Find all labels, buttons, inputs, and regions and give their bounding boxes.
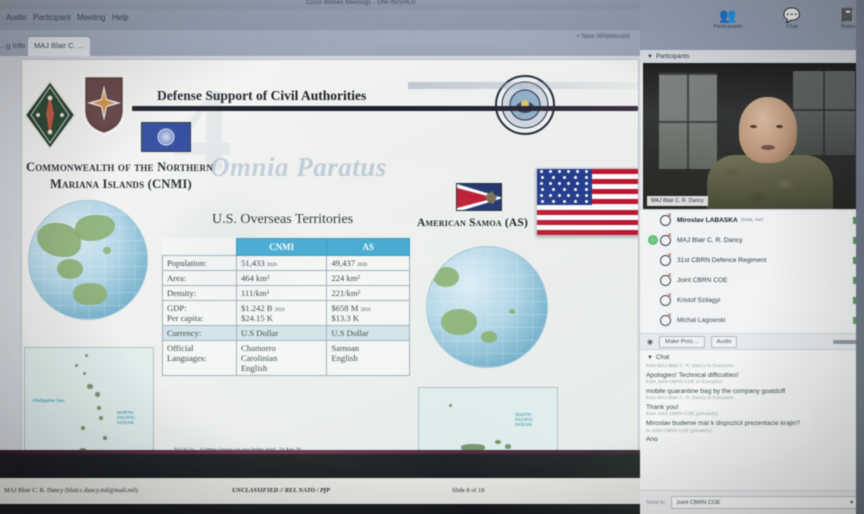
- island-farallon-de-pajaros: [85, 354, 88, 357]
- row-label: Area:: [163, 271, 237, 286]
- mic-muted-icon[interactable]: [660, 215, 671, 226]
- cell-cnmi: 51,433 2020: [237, 256, 327, 271]
- participants-label: Participants: [700, 24, 756, 30]
- table-row-currency: Currency: U.S Dollar U.S Dollar: [163, 326, 410, 341]
- speaking-indicator: [648, 255, 658, 265]
- chat-message-text: mobile quarantine bag by the company goa…: [646, 387, 858, 397]
- participants-panel-title: Participants: [656, 53, 689, 60]
- participant-name: MAJ Blair C. R. Dancy: [677, 237, 743, 244]
- landmass-indonesia: [57, 259, 83, 279]
- participants-list[interactable]: Miroslav LABASKA (Host, me) MAJ Blair C.…: [640, 209, 864, 333]
- make-presenter-button[interactable]: Make Pres…: [659, 336, 705, 348]
- table-row-languages: Official Languages: Chamorro Carolinian …: [163, 341, 410, 376]
- cell-cnmi: Chamorro Carolinian English: [237, 341, 327, 376]
- chevron-down-icon: ▼: [647, 54, 653, 60]
- table-header-row: CNMI AS: [163, 239, 410, 256]
- list-item[interactable]: Kristof Szilagyi: [640, 290, 864, 310]
- list-item[interactable]: MAJ Blair C. R. Dancy: [640, 230, 864, 250]
- island-asuncion: [83, 372, 86, 375]
- cnmi-caption-line1: Commonwealth of the Northern: [26, 160, 213, 175]
- app-status-bar: MAJ Blair C. R. Dancy (blair.c.dancy.mil…: [0, 478, 640, 504]
- table-row-gdp: GDP: Per capita: $1.242 B 2016 $24.15 K …: [163, 301, 410, 326]
- chat-panel-title: Chat: [656, 354, 670, 361]
- title-highlight-bar: [408, 82, 638, 89]
- cell-cnmi: $1.242 B 2016 $24.15 K: [237, 301, 327, 326]
- send-to-label: Send to:: [646, 500, 666, 506]
- menu-item-audio[interactable]: Audio: [6, 13, 26, 22]
- participant-role: (Host, me): [741, 218, 763, 223]
- landmass-samoa: [509, 309, 515, 314]
- presenter-ball-icon: ◉: [647, 338, 653, 346]
- status-slide-number: Slide 8 of 18: [452, 487, 484, 494]
- panel-toolbar: 👥 Participants 💬 Chat 📓 Notes: [640, 0, 864, 50]
- video-person-eye-right: [776, 125, 783, 128]
- map-label-north-pacific: NORTH PACIFIC OCEAN: [117, 410, 149, 425]
- chat-button[interactable]: 💬 Chat: [764, 8, 820, 30]
- list-item[interactable]: Michal Lagowski: [640, 310, 864, 330]
- video-name-label: MAJ Blair C. R. Dancy: [647, 196, 708, 206]
- unit-patch-shield-icon: [82, 74, 126, 136]
- screen-bottom-edge: [0, 504, 640, 514]
- slide-title: Defense Support of Civil Authorities: [157, 88, 366, 104]
- participant-name: Michal Lagowski: [677, 317, 725, 324]
- island-ofu-olosega: [495, 440, 501, 444]
- island-anatahan: [103, 436, 107, 440]
- chat-message-list[interactable]: from MAJ Blair C. R. Dancy to Everyone: …: [640, 364, 864, 445]
- speaking-indicator: [648, 295, 658, 305]
- participants-action-bar: ◉ Make Pres… Audio: [640, 333, 864, 349]
- us-flag-icon: [536, 168, 638, 236]
- send-to-select[interactable]: Joint CBRN COE ▾: [671, 496, 858, 509]
- mic-muted-icon[interactable]: [660, 295, 671, 306]
- map-label-south-pacific: SOUTH PACIFIC OCEAN: [515, 412, 543, 427]
- chat-message-from: from Joint CBRN COE (privately):: [646, 412, 858, 419]
- cell-as: 224 km²: [327, 271, 410, 286]
- landmass-asia-edge: [433, 267, 459, 287]
- tab-meeting-info[interactable]: ...g Info: [0, 37, 31, 56]
- mic-muted-icon[interactable]: [660, 255, 671, 266]
- island-maug: [75, 364, 78, 367]
- list-item[interactable]: Miroslav LABASKA (Host, me): [640, 210, 864, 230]
- video-person-eye-left: [750, 125, 757, 128]
- participants-panel-header[interactable]: ▼Participants: [640, 50, 864, 63]
- chat-message-from: to Joint CBRN COE (privately):: [646, 429, 858, 436]
- list-item[interactable]: Joint CBRN COE: [640, 270, 864, 290]
- row-label: Official Languages:: [163, 341, 237, 376]
- cell-as: $658 M 2016 $13.3 K: [327, 301, 410, 326]
- row-label: Density:: [163, 286, 237, 301]
- slide-canvas: 4 Omnia Paratus: [22, 60, 638, 490]
- mic-muted-icon[interactable]: [660, 235, 671, 246]
- participant-name: Kristof Szilagyi: [677, 297, 720, 304]
- table-row-density: Density: 111/km² 221/km²: [163, 286, 410, 301]
- cell-as: 49,437 2020: [327, 256, 410, 271]
- camo-pattern: [707, 155, 833, 209]
- window-title: Cisco Webex Meetings - UNFINISHED: [306, 0, 416, 6]
- mullion: [687, 73, 689, 169]
- video-person-torso: [707, 155, 833, 209]
- table-row-area: Area: 464 km² 224 km²: [163, 271, 410, 286]
- cnmi-flag-icon: [141, 122, 191, 152]
- globe-south-pacific: [426, 246, 548, 368]
- chat-send-to-row: Send to: Joint CBRN COE ▾: [640, 490, 864, 514]
- mullion: [823, 71, 825, 155]
- island-swains: [449, 404, 452, 407]
- chat-panel: ▼Chat from MAJ Blair C. R. Dancy to Ever…: [640, 349, 864, 514]
- landmass-australia: [441, 309, 477, 335]
- video-person-mouth: [761, 145, 775, 150]
- american-samoa-flag-icon: [456, 183, 502, 211]
- menu-item-help[interactable]: Help: [112, 13, 128, 22]
- title-rule: [132, 106, 638, 111]
- chat-label: Chat: [764, 24, 820, 30]
- watermark-motto: Omnia Paratus: [210, 152, 387, 183]
- chat-message-from: from MAJ Blair C. R. Dancy to Everyone:: [646, 396, 858, 403]
- island-agrihan: [87, 384, 93, 389]
- table-header-as: AS: [327, 239, 410, 256]
- table-title: U.S. Overseas Territories: [212, 212, 353, 228]
- cell-as: 221/km²: [327, 286, 410, 301]
- row-label: Population:: [163, 256, 237, 271]
- island-alamagan: [97, 406, 101, 410]
- overseas-territories-table: CNMI AS Population: 51,433 2020 49,437 2…: [162, 238, 410, 376]
- landmass-new-zealand: [481, 331, 497, 343]
- speaking-indicator: [648, 215, 658, 225]
- chat-message-from: from MAJ Blair C. R. Dancy to Everyone:: [646, 364, 858, 371]
- presentation-stage[interactable]: 4 Omnia Paratus: [0, 56, 640, 514]
- participants-button[interactable]: 👥 Participants: [700, 8, 756, 30]
- tab-presentation[interactable]: MAJ Blair C. ...: [28, 37, 90, 56]
- mic-muted-icon[interactable]: [660, 275, 671, 286]
- cnmi-flag-star: [158, 129, 175, 146]
- status-author: MAJ Blair C. R. Dancy (blair.c.dancy.mil…: [4, 487, 138, 494]
- chat-icon: 💬: [764, 8, 820, 23]
- audio-button[interactable]: Audio: [711, 336, 738, 348]
- island-pagan: [95, 392, 100, 397]
- table-header-blank: [163, 239, 237, 256]
- menu-item-meeting[interactable]: Meeting: [77, 13, 105, 22]
- globe-western-pacific: [28, 200, 148, 320]
- globe-grid: [427, 247, 547, 367]
- chat-message-from: from Joint CBRN COE to Everyone:: [646, 380, 858, 387]
- row-label: GDP: Per capita:: [163, 301, 237, 326]
- landmass-marianas: [103, 247, 111, 254]
- video-tile[interactable]: MAJ Blair C. R. Dancy: [643, 63, 861, 209]
- american-samoa-caption: American Samoa (AS): [417, 217, 528, 229]
- chat-message-text: Miroslav budeme mat k dispozicii prezent…: [646, 419, 858, 429]
- cell-as: Samoan English: [327, 341, 410, 376]
- participants-icon: 👥: [700, 8, 756, 23]
- new-whiteboard-button[interactable]: + New Whiteboard: [576, 33, 630, 40]
- island-guguan: [99, 416, 103, 420]
- cell-cnmi: 111/km²: [237, 286, 327, 301]
- island-sarigan: [81, 426, 85, 430]
- cnmi-caption-line2: Mariana Islands (CNMI): [50, 177, 192, 192]
- speaking-indicator: [648, 275, 658, 285]
- chevron-down-icon: ▼: [647, 355, 653, 361]
- list-item[interactable]: 31st CBRN Defence Regiment: [640, 250, 864, 270]
- menu-item-participant[interactable]: Participant: [33, 13, 71, 22]
- island-tau: [505, 444, 511, 449]
- table-header-cnmi: CNMI: [237, 239, 327, 256]
- speaking-indicator: [648, 315, 658, 325]
- cell-as: U.S Dollar: [327, 326, 410, 341]
- chat-message-text: Apologies! Technical difficulties!: [646, 371, 858, 381]
- cell-cnmi: 464 km²: [237, 271, 327, 286]
- landmass-australia: [73, 283, 107, 305]
- meeting-side-panel: 👥 Participants 💬 Chat 📓 Notes ▼Participa…: [640, 0, 864, 514]
- map-label-philippine-sea: Philippine Sea: [33, 398, 69, 403]
- window-dark-gap: [0, 454, 640, 478]
- us-flag-canton: [537, 169, 592, 205]
- status-classification: UNCLASSIFIED // REL NATO / PfP: [232, 487, 330, 494]
- participant-name: 31st CBRN Defence Regiment: [677, 257, 766, 264]
- chevron-down-icon: ▾: [850, 500, 853, 506]
- send-to-value: Joint CBRN COE: [676, 500, 720, 506]
- cell-cnmi: U.S Dollar: [237, 326, 327, 341]
- participant-name: Miroslav LABASKA: [677, 217, 738, 224]
- desktop-right-edge: [856, 0, 864, 514]
- speaking-indicator: [648, 235, 658, 245]
- unit-patch-diamond-icon: [24, 80, 76, 150]
- participant-name: Joint CBRN COE: [677, 277, 728, 284]
- row-label: Currency:: [163, 326, 237, 341]
- table-row-population: Population: 51,433 2020 49,437 2020: [163, 256, 410, 271]
- chat-panel-header[interactable]: ▼Chat: [640, 350, 864, 364]
- mic-muted-icon[interactable]: [660, 315, 671, 326]
- video-person-head: [739, 97, 797, 163]
- chat-message-text: Ano: [646, 435, 858, 445]
